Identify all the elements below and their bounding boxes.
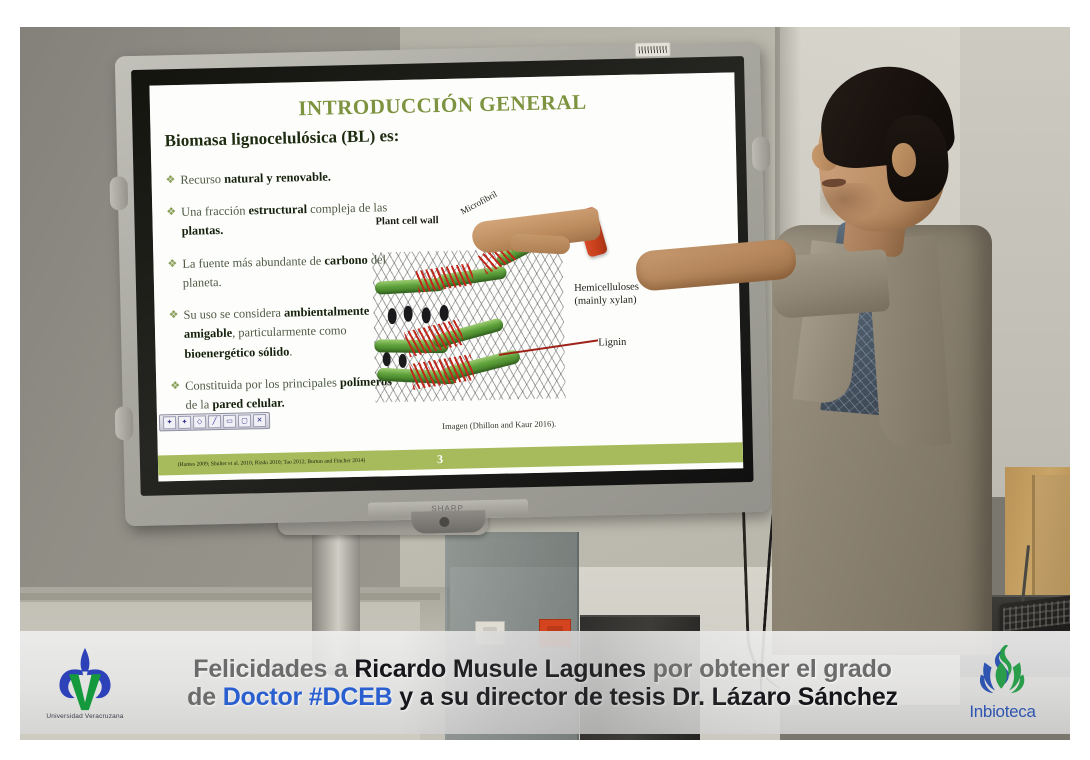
bullet-marker-icon: ❖ [166,203,177,242]
lignin-node [439,305,448,321]
bullet-item: ❖ Una fracción estructural compleja de l… [166,198,399,242]
diagram-label-plant-cell-wall: Plant cell wall [375,215,438,227]
fleur-de-lis-icon [47,646,123,712]
hemicelluloses-sub: (mainly xylan) [574,295,636,307]
bullet-item: ❖ La fuente más abundante de carbono del… [167,250,400,294]
hemicelluloses-main: Hemicelluloses [574,282,639,294]
annotation-toolbar[interactable]: ✦ ✦ ◇ ╱ ▭ ▢ ✕ [159,412,270,432]
diagram-label-hemicelluloses: Hemicelluloses (mainly xylan) [574,281,639,309]
presenter-chin-shadow [820,183,880,223]
select-icon[interactable]: ▢ [238,414,251,427]
lignin-node [422,307,431,323]
bullet-marker-icon: ❖ [168,306,179,364]
diagram-label-microfibril: Microfibril [459,189,499,217]
diagram-image-credit: Imagen (Dhillon and Kaur 2016). [442,418,556,431]
bullet-item: ❖ Recurso natural y renovable. [165,166,397,190]
lignin-node [399,354,407,368]
bullet-item: ❖ Constituida por los principales políme… [170,372,403,416]
display-side-knob-left-bottom [115,406,134,440]
lignin-node [403,306,412,322]
eraser-icon[interactable]: ◇ [193,415,206,428]
shape-icon[interactable]: ▭ [223,415,236,428]
caption-text-block: Felicidades a Ricardo Musule Lagunes por… [150,655,935,711]
inbioteca-flame-icon [972,643,1034,701]
slide-subtitle: Biomasa lignocelulósica (BL) es: [164,126,399,151]
display-sensor-pod [411,510,485,534]
slide-footer-citation: (Hames 2009; Shulter et al. 2010; Rizdo … [158,457,379,469]
pen-blue-icon[interactable]: ✦ [163,416,176,429]
display-side-knob-left-top [109,176,128,210]
baseboard [20,593,440,600]
presenter [660,57,1070,687]
logo-inbioteca: Inbioteca [935,631,1070,734]
display-bezel-sticker [635,42,671,58]
highlighter-icon[interactable]: ╱ [208,415,221,428]
bullet-item: ❖ Su uso se considera ambientalmente ami… [168,301,401,364]
caption-bar: Universidad Veracruzana Felicidades a Ri… [20,631,1070,734]
bullet-marker-icon: ❖ [167,255,178,294]
logo-inbioteca-caption: Inbioteca [969,702,1035,722]
slide-number: 3 [437,452,443,467]
bullet-marker-icon: ❖ [170,377,181,416]
bullet-marker-icon: ❖ [165,171,175,190]
close-icon[interactable]: ✕ [253,414,266,427]
diagram-label-lignin: Lignin [598,337,626,349]
screenshot-root: INTRODUCCIÓN GENERAL Biomasa lignoceluló… [0,0,1090,760]
logo-uv-caption: Universidad Veracruzana [46,713,123,720]
caption-line-2: de Doctor #DCEB y a su director de tesis… [156,683,929,711]
caption-line-1: Felicidades a Ricardo Musule Lagunes por… [156,655,929,683]
logo-universidad-veracruzana: Universidad Veracruzana [20,631,150,734]
pen-blue-alt-icon[interactable]: ✦ [178,416,191,429]
presenter-thumb [510,233,571,254]
lignin-node [388,308,397,324]
bullet-text: Recurso natural y renovable. [180,166,398,190]
slide-title: INTRODUCCIÓN GENERAL [150,86,735,124]
lignin-node [383,352,391,366]
